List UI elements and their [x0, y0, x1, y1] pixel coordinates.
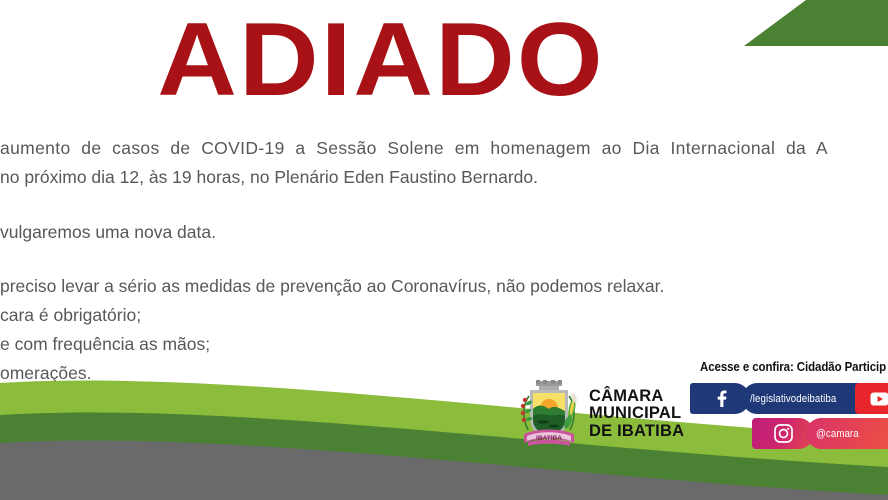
paragraph-3-line-2: cara é obrigatório; [0, 307, 888, 336]
youtube-button[interactable] [855, 383, 888, 414]
social-heading: Acesse e confira: Cidadão Particip [700, 360, 886, 374]
paragraph-spacer-2 [0, 253, 888, 278]
page-title: ADIADO [0, 8, 785, 112]
social-links: Acesse e confira: Cidadão Particip /legi… [690, 360, 888, 460]
brand-line-1: CÂMARA [589, 388, 684, 405]
body-copy: aumento de casos de COVID-19 a Sessão So… [0, 140, 888, 394]
paragraph-1-line-1: aumento de casos de COVID-19 a Sessão So… [0, 140, 888, 169]
coat-of-arms-icon: IBATIBA [516, 378, 582, 450]
instagram-handle-badge[interactable]: @camara [806, 418, 888, 449]
instagram-handle: @camara [816, 428, 859, 440]
poster-canvas: ADIADO aumento de casos de COVID-19 a Se… [0, 0, 888, 500]
brand-line-3: DE IBATIBA [589, 423, 684, 440]
paragraph-1: aumento de casos de COVID-19 a Sessão So… [0, 140, 888, 198]
paragraph-1-line-2: no próximo dia 12, às 19 horas, no Plená… [0, 169, 888, 198]
facebook-icon [714, 390, 727, 407]
facebook-handle: /legislativodeibatiba [750, 393, 836, 405]
paragraph-2: vulgaremos uma nova data. [0, 224, 888, 253]
instagram-button[interactable] [752, 418, 814, 449]
facebook-button[interactable] [690, 383, 750, 414]
instagram-icon [774, 424, 793, 443]
brand-name: CÂMARA MUNICIPAL DE IBATIBA [589, 388, 684, 440]
facebook-handle-badge[interactable]: /legislativodeibatiba [742, 383, 872, 414]
paragraph-3-line-1: preciso levar a sério as medidas de prev… [0, 278, 888, 307]
brand-line-2: MUNICIPAL [589, 405, 684, 422]
paragraph-2-line-1: vulgaremos uma nova data. [0, 224, 888, 253]
youtube-icon [870, 392, 888, 406]
brand-lockup: IBATIBA CÂMARA MUNICIPAL DE IBATIBA [516, 378, 684, 450]
paragraph-spacer-1 [0, 198, 888, 224]
